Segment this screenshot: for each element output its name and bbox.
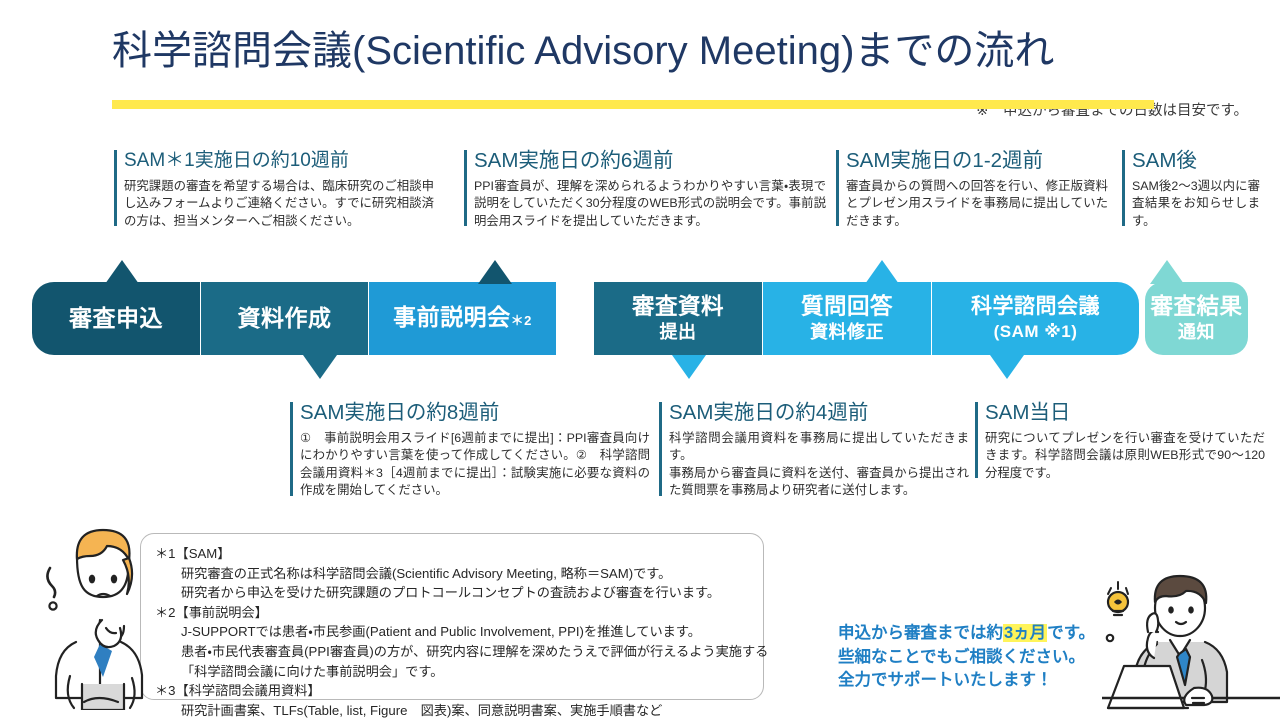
footnote-label-line: ＊1【SAM】 xyxy=(155,544,749,564)
card-accent-bar xyxy=(114,150,117,226)
worried-researcher-illustration xyxy=(44,524,162,710)
card-accent-bar xyxy=(659,402,662,496)
card-1-2-weeks: SAM実施日の1-2週前審査員からの質問への回答を行い、修正版資料とプレゼン用ス… xyxy=(836,148,1108,230)
card-heading: SAM後 xyxy=(1132,148,1260,174)
card-heading: SAM実施日の1-2週前 xyxy=(846,148,1108,174)
flow-step-label: 審査結果 xyxy=(1150,293,1242,320)
flow-step-label: 質問回答 xyxy=(801,293,893,320)
card-accent-bar xyxy=(290,402,293,496)
page-title: 科学諮問会議(Scientific Advisory Meeting)までの流れ xyxy=(112,26,1172,76)
message-highlight: 3ヵ月 xyxy=(1003,624,1047,642)
card-body: 研究についてプレゼンを行い審査を受けていただきます。科学諮問会議は原則WEB形式… xyxy=(985,430,1265,482)
card-body: 審査員からの質問への回答を行い、修正版資料とプレゼン用スライドを事務局に提出して… xyxy=(846,178,1108,230)
flow-step-shiryou-sakusei[interactable]: 資料作成 xyxy=(201,282,368,355)
flow-step-sublabel: 資料修正 xyxy=(801,320,893,344)
support-message: 申込から審査までは約3ヵ月です。 些細なことでもご相談ください。 全力でサポート… xyxy=(838,622,1095,693)
card-after-sam: SAM後SAM後2〜3週以内に審査結果をお知らせします。 xyxy=(1122,148,1260,230)
footnote-detail-line: 研究計画書案、TLFs(Table, list, Figure 図表)案、同意説… xyxy=(155,701,749,720)
message-line-1-suffix: です。 xyxy=(1047,624,1095,642)
message-line-2: 些細なことでもご相談ください。 xyxy=(838,646,1095,670)
flow-step-label: 審査資料 xyxy=(632,293,724,320)
footnote-detail-line: 「科学諮問会議に向けた事前説明会」です。 xyxy=(155,662,749,682)
flow-step-shinsa-shiryou-teishutsu[interactable]: 審査資料提出 xyxy=(594,282,762,355)
footnote-detail-line: 患者・市民代表審査員(PPI審査員)の方が、研究内容に理解を深めたうえで評価が行… xyxy=(155,642,749,662)
card-body: PPI審査員が、理解を深められるようわかりやすい言葉・表現で説明をしていただく3… xyxy=(474,178,826,230)
card-heading: SAM実施日の約4週前 xyxy=(669,400,969,426)
flow-step-footnote-marker: ＊2 xyxy=(511,313,532,328)
card-heading: SAM当日 xyxy=(985,400,1265,426)
card-body: ① 事前説明会用スライド[6週前までに提出]：PPI審査員向けにわかりやすい言葉… xyxy=(300,430,650,500)
down-arrow-icon xyxy=(303,355,337,379)
footnote-detail-line: 研究者から申込を受けた研究課題のプロトコールコンセプトの査読および審査を行います… xyxy=(155,583,749,603)
flow-step-jizen-setsumeikai[interactable]: 事前説明会＊2 xyxy=(369,282,556,355)
footnote-detail-line: 研究審査の正式名称は科学諮問会議(Scientific Advisory Mee… xyxy=(155,564,749,584)
flow-step-label: 審査申込 xyxy=(69,305,163,332)
card-8-weeks: SAM実施日の約8週前① 事前説明会用スライド[6週前までに提出]：PPI審査員… xyxy=(290,400,650,500)
down-arrow-icon xyxy=(990,355,1024,379)
flow-step-shinsa-moushikomi[interactable]: 審査申込 xyxy=(32,282,200,355)
flow-step-label: 資料作成 xyxy=(238,305,332,332)
card-accent-bar xyxy=(1122,150,1125,226)
flow-step-sublabel: 通知 xyxy=(1150,320,1242,344)
flow-step-label: 事前説明会＊2 xyxy=(393,304,532,334)
card-accent-bar xyxy=(464,150,467,226)
message-line-1-prefix: 申込から審査までは約 xyxy=(838,624,1003,642)
card-body: 研究課題の審査を希望する場合は、臨床研究のご相談申し込みフォームよりご連絡くださ… xyxy=(124,178,434,230)
slide-canvas: 科学諮問会議(Scientific Advisory Meeting)までの流れ… xyxy=(0,0,1280,720)
card-heading: SAM＊1実施日の約10週前 xyxy=(124,148,434,174)
footnote-label-line: ＊2【事前説明会】 xyxy=(155,603,749,623)
down-arrow-icon xyxy=(672,355,706,379)
flow-step-sublabel: (SAM ※1) xyxy=(971,320,1100,344)
card-10-weeks: SAM＊1実施日の約10週前研究課題の審査を希望する場合は、臨床研究のご相談申し… xyxy=(114,148,434,230)
card-heading: SAM実施日の約6週前 xyxy=(474,148,826,174)
card-body: 科学諮問会議用資料を事務局に提出していただきます。 事務局から審査員に資料を送付… xyxy=(669,430,969,500)
message-line-1: 申込から審査までは約3ヵ月です。 xyxy=(838,622,1095,646)
flow-step-kagaku-shimon-kaigi[interactable]: 科学諮問会議(SAM ※1) xyxy=(932,282,1139,355)
message-line-3: 全力でサポートいたします！ xyxy=(838,669,1095,693)
card-accent-bar xyxy=(975,402,978,478)
card-6-weeks: SAM実施日の約6週前PPI審査員が、理解を深められるようわかりやすい言葉・表現… xyxy=(464,148,826,230)
card-heading: SAM実施日の約8週前 xyxy=(300,400,650,426)
footnote-box: ＊1【SAM】研究審査の正式名称は科学諮問会議(Scientific Advis… xyxy=(140,533,764,700)
supporter-with-laptop-illustration xyxy=(1102,572,1280,720)
up-arrow-icon xyxy=(105,260,139,284)
title-underline xyxy=(112,100,1154,109)
flow-step-shinsa-kekka-tsuuchi[interactable]: 審査結果通知 xyxy=(1145,282,1248,355)
up-arrow-icon xyxy=(865,260,899,284)
footnote-detail-line: J-SUPPORTでは患者・市民参画(Patient and Public In… xyxy=(155,622,749,642)
card-4-weeks: SAM実施日の約4週前科学諮問会議用資料を事務局に提出していただきます。 事務局… xyxy=(659,400,969,500)
footnote-label-line: ＊3【科学諮問会議用資料】 xyxy=(155,681,749,701)
title-block: 科学諮問会議(Scientific Advisory Meeting)までの流れ xyxy=(112,26,1172,76)
up-arrow-icon xyxy=(1150,260,1184,284)
up-arrow-icon xyxy=(478,260,512,284)
card-sam-day: SAM当日研究についてプレゼンを行い審査を受けていただきます。科学諮問会議は原則… xyxy=(975,400,1265,482)
card-body: SAM後2〜3週以内に審査結果をお知らせします。 xyxy=(1132,178,1260,230)
flow-step-shitsumon-kaitou[interactable]: 質問回答資料修正 xyxy=(763,282,931,355)
flow-step-label: 科学諮問会議 xyxy=(971,293,1100,320)
card-accent-bar xyxy=(836,150,839,226)
flow-step-sublabel: 提出 xyxy=(632,320,724,344)
